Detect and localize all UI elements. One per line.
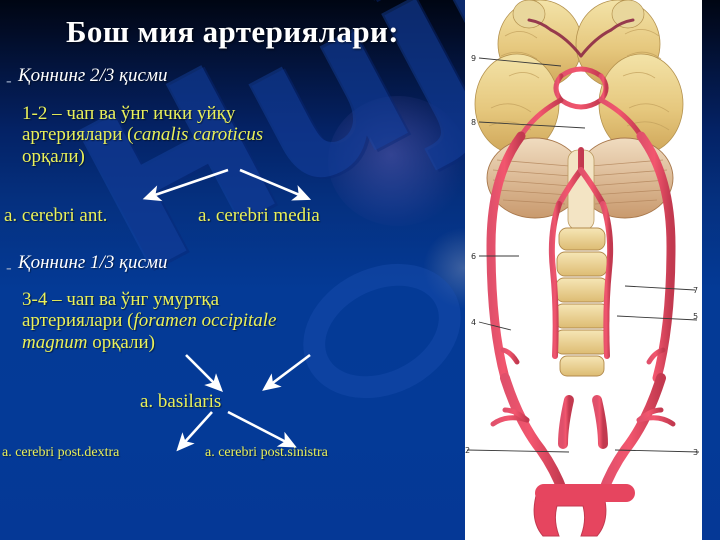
detail-1-line3: орқали) <box>22 146 85 167</box>
label-cerebri-post-sinistra: a. cerebri post.sinistra <box>205 445 328 461</box>
detail-1-line1: 1-2 – чап ва ўнг ички уйқу <box>22 103 235 124</box>
arrow-right-to-basilaris <box>270 355 310 385</box>
label-cerebri-post-dextra: a. cerebri post.dextra <box>2 445 119 461</box>
svg-text:9: 9 <box>471 54 476 63</box>
svg-text:6: 6 <box>471 252 476 261</box>
label-basilaris: a. basilaris <box>140 391 221 413</box>
svg-text:4: 4 <box>471 318 476 327</box>
bullet-dash-1: - <box>6 72 18 89</box>
arrow-to-cerebri-media <box>240 170 302 196</box>
artery-anatomy-svg: 9 8 6 4 2 7 5 3 <box>465 0 702 540</box>
bullet-row-2: - Қоннинг 1/3 қисми <box>6 253 168 276</box>
bullet-row-1: - Қоннинг 2/3 қисми <box>6 66 168 89</box>
detail-1-line2-pre: артериялари ( <box>22 124 134 145</box>
svg-text:2: 2 <box>465 446 470 455</box>
lead-text-1: Қоннинг 2/3 қисми <box>18 66 168 86</box>
slide-canvas: Hujjat <box>0 0 720 540</box>
detail-1-line2-italic: canalis caroticus <box>134 124 264 145</box>
detail-2-line3-post: орқали) <box>87 332 155 353</box>
arrow-to-post-sinistra <box>228 412 288 443</box>
svg-text:8: 8 <box>471 118 476 127</box>
bullet-dash-2: - <box>6 259 18 276</box>
svg-text:5: 5 <box>693 312 698 321</box>
lead-text-2: Қоннинг 1/3 қисми <box>18 253 168 273</box>
arrow-left-to-basilaris <box>186 355 216 385</box>
label-cerebri-ant: a. cerebri ant. <box>4 205 107 227</box>
page-title: Бош мия артериялари: <box>0 14 465 50</box>
detail-2-line1: 3-4 – чап ва ўнг умуртқа <box>22 289 219 310</box>
artery-anatomy-image: 9 8 6 4 2 7 5 3 <box>465 0 702 540</box>
label-cerebri-media: a. cerebri media <box>198 205 320 227</box>
arrow-to-cerebri-ant <box>152 170 228 196</box>
detail-2-line2-italic: foramen occipitale <box>134 310 277 331</box>
detail-2-line2-pre: артериялари ( <box>22 310 134 331</box>
detail-paragraph-1: 1-2 – чап ва ўнг ички уйқу артериялари (… <box>22 103 372 167</box>
svg-text:3: 3 <box>693 448 698 457</box>
detail-2-line3-italic: magnum <box>22 332 87 353</box>
detail-paragraph-2: 3-4 – чап ва ўнг умуртқа артериялари (fo… <box>22 289 377 353</box>
svg-text:7: 7 <box>693 286 698 295</box>
arrow-to-post-dextra <box>183 412 212 444</box>
